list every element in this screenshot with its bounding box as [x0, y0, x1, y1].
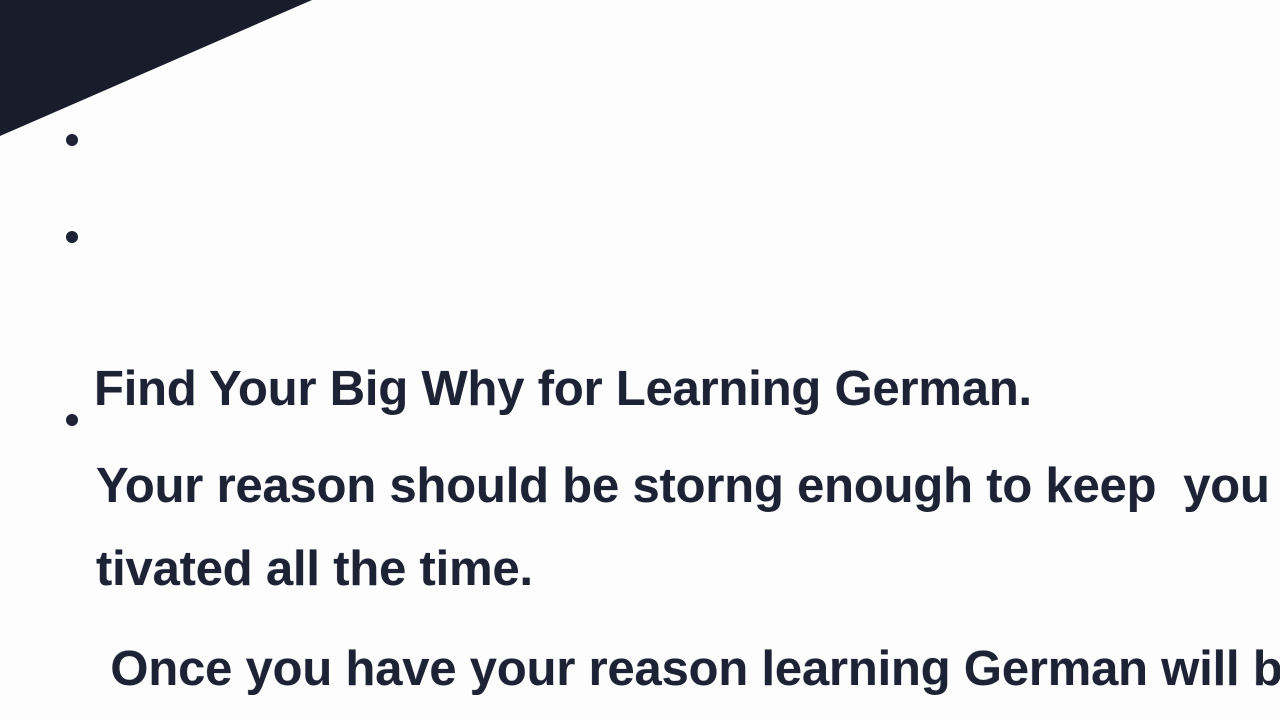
bullet-marker-icon	[66, 414, 78, 426]
slide-canvas: Find Your Big Why for Learning German. Y…	[0, 0, 1280, 720]
bullet-marker-icon	[66, 231, 78, 243]
bullet-text-3: Once you have your reason learning Germa…	[88, 628, 1280, 720]
bullet-item-3: Once you have your reason learning Germa…	[0, 379, 1280, 720]
bullet-marker-icon	[66, 134, 78, 146]
